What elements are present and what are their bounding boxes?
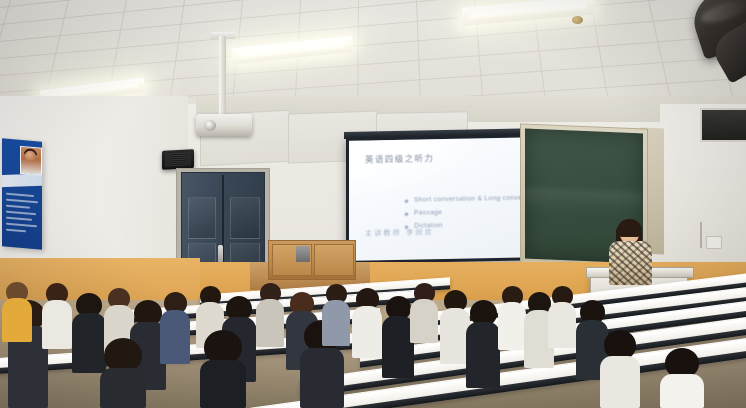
student [200,330,246,408]
door-handle[interactable] [218,245,223,263]
ceiling-projector [196,114,252,136]
student-body [600,356,640,408]
instructor-hair [617,219,642,237]
slide-footer: 主讲教师 李同欢 [365,227,434,238]
student [600,330,640,408]
student-body [498,302,526,350]
projector-mount-pole [219,36,226,118]
poster-portrait-photo [20,146,42,176]
student [410,283,438,343]
wall-speaker [162,149,194,170]
instructor [604,222,656,284]
student-body [352,306,382,358]
framed-wall-panel [700,108,746,142]
projection-screen: 英语四级之听力 Short conversation & Long conver… [346,134,544,264]
student-body [160,310,190,364]
student-body [548,302,576,348]
student [2,282,32,342]
student-body [660,374,704,408]
blue-wall-poster [2,138,42,249]
projector-glare [349,137,483,201]
student-body [410,299,438,343]
student-head [204,330,242,364]
slide-title: 英语四级之听力 [365,152,434,165]
student-body [300,348,344,408]
smoke-detector-right [572,16,583,24]
student [548,286,576,348]
poster-swoosh-graphic [2,173,42,187]
student [660,348,704,408]
student-body [42,300,72,349]
trash-bin [296,246,310,262]
student [322,284,350,346]
chalkboard-dust [525,187,643,215]
student-body [2,298,32,342]
student-body [100,368,146,408]
student-body [466,322,500,388]
student [100,338,146,408]
instructor-body [609,241,652,285]
student-head [104,338,142,372]
student [160,292,190,364]
storage-cabinet [268,240,356,280]
student [498,286,526,350]
wall-cable [700,222,702,248]
projector-lens [204,120,216,131]
wall-outlet [706,236,722,249]
student [42,283,72,349]
student-body [200,360,246,408]
poster-portrait-head [25,150,36,162]
student-body [256,299,284,347]
student [352,288,382,358]
student [256,283,284,347]
classroom-photo: 英语四级之听力 Short conversation & Long conver… [0,0,746,408]
student-body [322,300,350,346]
speaker-grill [165,152,191,166]
projection-screen-surface: 英语四级之听力 Short conversation & Long conver… [349,137,541,261]
student [466,300,500,388]
